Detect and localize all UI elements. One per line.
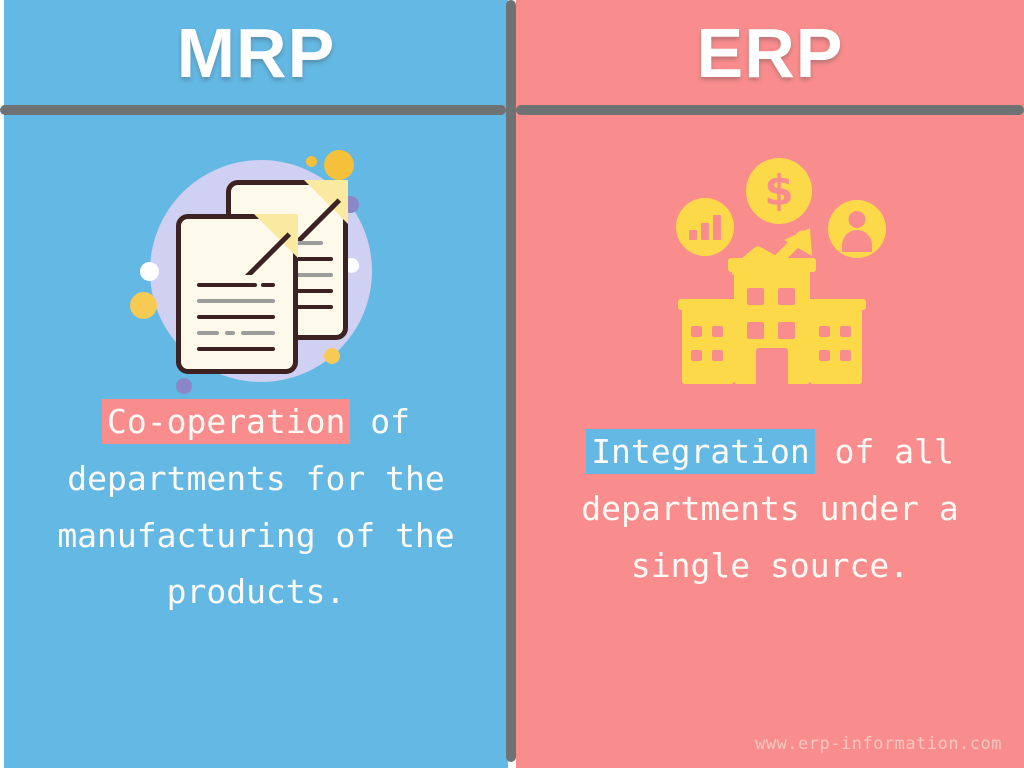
doc-text-line	[197, 299, 275, 303]
description-mrp-highlight: Co-operation	[102, 399, 350, 444]
decor-dot-yellow-small	[306, 156, 317, 167]
header-mrp: MRP	[4, 0, 508, 105]
building-window	[778, 322, 795, 339]
building-left	[682, 306, 734, 384]
title-erp: ERP	[697, 18, 844, 88]
divider-vertical	[506, 0, 516, 762]
building-window	[712, 326, 723, 337]
panel-erp	[516, 0, 1024, 768]
chart-bar	[713, 215, 721, 240]
doc-text-line	[197, 331, 219, 335]
decor-dot-purple-bottom	[176, 378, 192, 394]
decor-dot-yellow-left	[130, 292, 157, 319]
doc-text-line	[241, 331, 275, 335]
dollar-coin-icon: $	[746, 158, 812, 224]
building-window	[778, 288, 795, 305]
building-right	[810, 306, 862, 384]
building-window	[840, 350, 851, 361]
dollar-symbol: $	[764, 170, 793, 212]
decor-dot-white-left	[140, 262, 159, 281]
doc-text-line	[225, 331, 235, 335]
description-erp: Integration of all departments under a s…	[516, 424, 1024, 594]
building-window	[747, 288, 764, 305]
user-body	[842, 230, 872, 252]
building-window	[691, 350, 702, 361]
decor-dot-yellow-large	[324, 150, 354, 180]
divider-horizontal-left	[0, 105, 506, 115]
building-window	[819, 350, 830, 361]
doc-text-line	[197, 315, 275, 319]
enterprise-buildings-icon: $	[676, 158, 866, 384]
doc-text-line	[261, 283, 275, 287]
bar-chart-icon	[676, 198, 734, 256]
watermark: www.erp-information.com	[755, 734, 1002, 754]
header-erp: ERP	[516, 0, 1024, 105]
page-fold-edge	[237, 213, 299, 275]
title-mrp: MRP	[177, 18, 336, 88]
infographic-canvas: MRP ERP	[0, 0, 1024, 768]
document-front	[176, 214, 298, 374]
building-window	[712, 350, 723, 361]
building-entrance	[756, 348, 788, 384]
building-window	[819, 326, 830, 337]
doc-text-line	[197, 347, 275, 351]
building-window	[747, 322, 764, 339]
description-erp-highlight: Integration	[586, 429, 815, 474]
user-icon	[828, 200, 886, 258]
divider-horizontal-right	[516, 105, 1024, 115]
decor-dot-yellow-lower	[324, 348, 340, 364]
user-head	[849, 211, 866, 228]
building-window	[840, 326, 851, 337]
chart-bar	[701, 223, 709, 240]
building-window	[691, 326, 702, 337]
doc-text-line	[197, 283, 257, 287]
description-mrp: Co-operation of departments for the manu…	[4, 394, 508, 621]
documents-icon	[128, 152, 376, 392]
chart-bar	[689, 230, 697, 240]
